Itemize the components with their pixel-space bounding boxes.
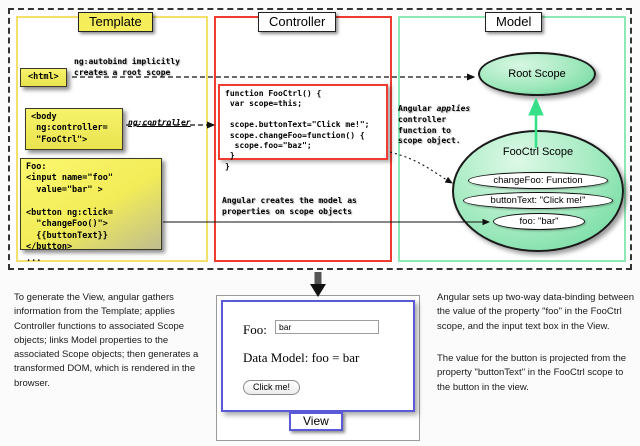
template-body-tag-box: <body ng:controller= "FooCtrl"> [25,108,123,150]
scope-property-changefoo: changeFoo: Function [468,172,608,189]
annotation-ng-controller: ng:controller [128,118,191,129]
view-foo-label: Foo: [243,322,267,338]
annotation-applies-prefix: Angular [398,104,437,113]
panel-title-model: Model [485,12,542,32]
view-render-box: Foo: Data Model: foo = bar Click me! [221,300,415,412]
view-click-me-button[interactable]: Click me! [243,380,300,395]
view-foo-input[interactable] [275,320,379,334]
controller-code-block: function FooCtrl() { var scope=this; sco… [218,84,388,160]
template-html-tag-box: <html> [20,68,67,87]
description-left: To generate the View, angular gathers in… [14,291,214,391]
panel-title-controller: Controller [258,12,336,32]
scope-property-buttontext: buttonText: "Click me!" [463,192,613,209]
angularjs-architecture-diagram: Template Controller Model <html> <body n… [0,0,640,446]
root-scope-ellipse: Root Scope [478,52,596,96]
annotation-applies-emphasis: applies [437,104,471,113]
description-right-buttontext: The value for the button is projected fr… [437,352,635,395]
annotation-angular-creates-model: Angular creates the model as properties … [222,196,357,218]
root-scope-label: Root Scope [480,54,594,94]
annotation-angular-applies: Angular applies controller function to s… [398,104,470,147]
annotation-ng-autobind: ng:autobind implicitly creates a root sc… [74,57,180,79]
panel-title-template: Template [78,12,153,32]
annotation-applies-suffix: controller function to scope object. [398,115,461,146]
fooctrl-scope-label: FooCtrl Scope [454,146,622,158]
fooctrl-scope-ellipse: FooCtrl Scope [452,130,624,252]
description-right-databinding: Angular sets up two-way data-binding bet… [437,291,635,334]
scope-property-foo: foo: "bar" [493,213,585,230]
view-title-chip: View [289,412,343,431]
view-data-model-text: Data Model: foo = bar [243,350,359,366]
template-markup-box: Foo: <input name="foo" value="bar" > <bu… [20,158,162,250]
